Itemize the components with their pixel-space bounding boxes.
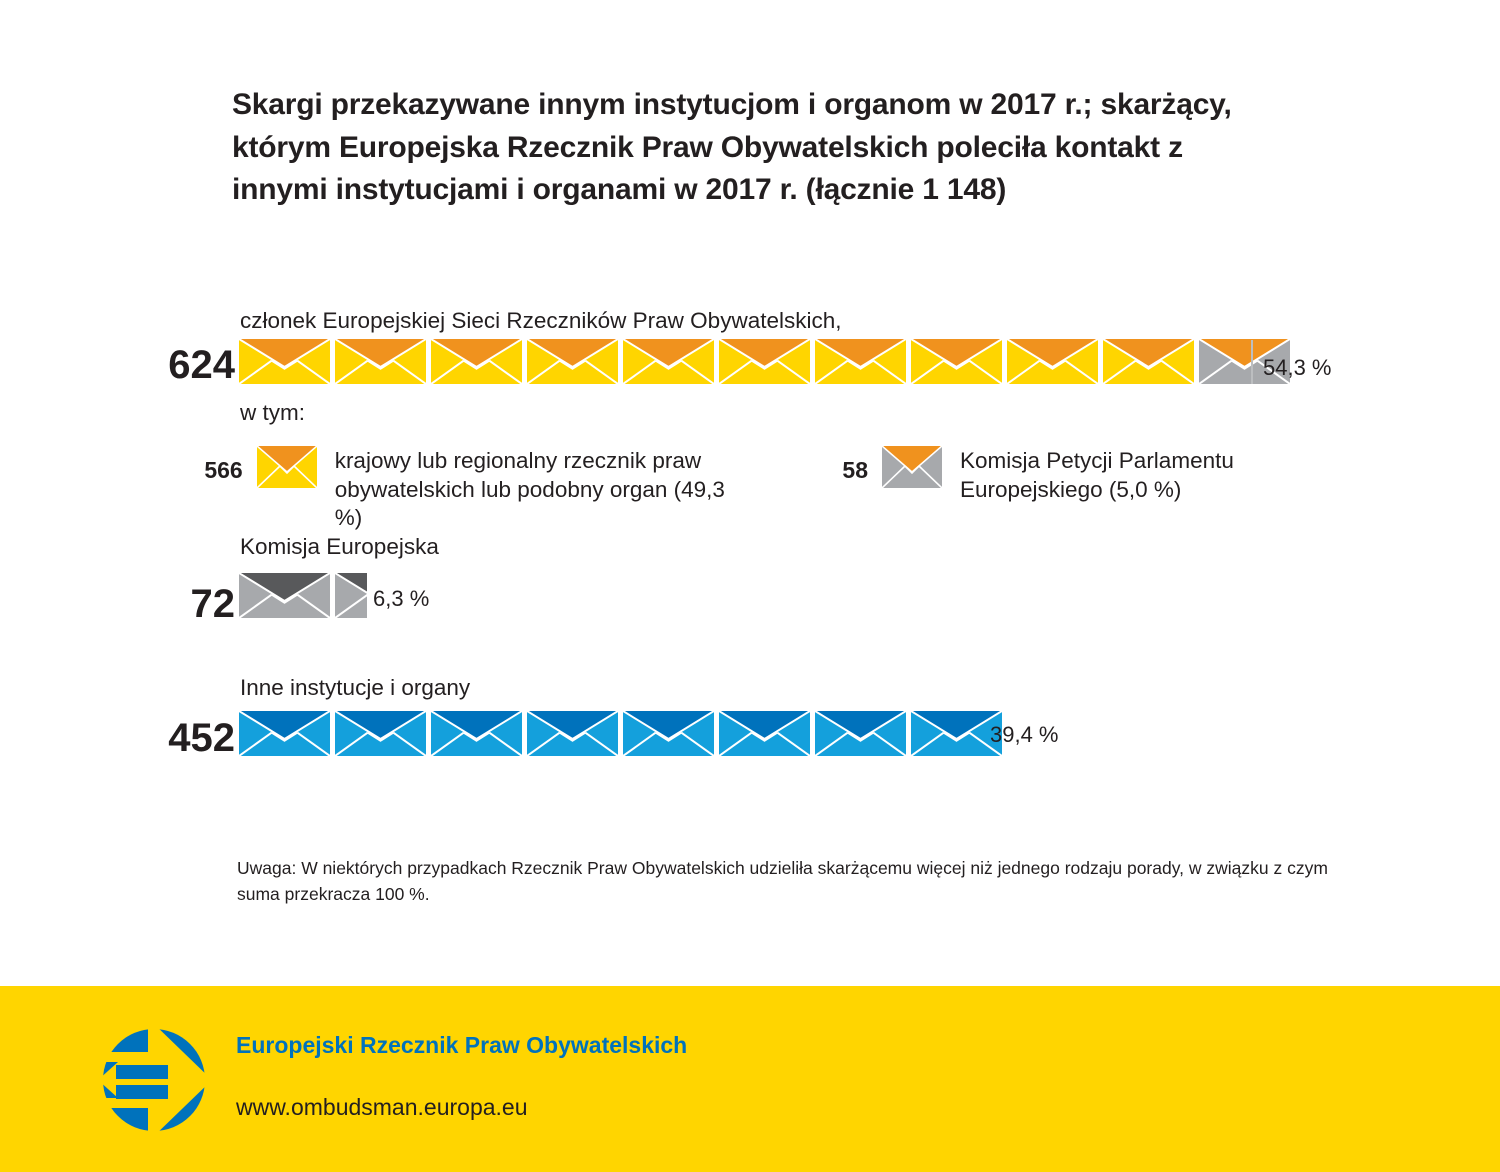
envelope-icon-blue bbox=[239, 711, 330, 756]
bar-end-tick bbox=[1251, 340, 1253, 384]
legend-item-petitions-committee: 58 Komisja Petycji Parlamentu Europejski… bbox=[790, 446, 1350, 504]
bar-european-commission bbox=[239, 573, 367, 618]
row-percent-european-commission: 6,3 % bbox=[373, 586, 429, 612]
row-label-ombudsman-network: członek Europejskiej Sieci Rzeczników Pr… bbox=[240, 307, 841, 335]
row-value-other-institutions: 452 bbox=[85, 718, 235, 758]
bar-other-institutions bbox=[239, 711, 1002, 756]
envelope-icon-yellow bbox=[1007, 339, 1098, 384]
envelope-icon-yellow bbox=[335, 339, 426, 384]
envelope-icon-yellow bbox=[239, 339, 330, 384]
envelope-icon-blue bbox=[335, 711, 426, 756]
envelope-icon-yellow bbox=[911, 339, 1002, 384]
european-ombudsman-logo bbox=[96, 1022, 212, 1143]
legend-item-national-ombudsman: 566 krajowy lub regionalny rzecznik praw… bbox=[145, 446, 745, 533]
bar-ombudsman-network bbox=[239, 339, 1290, 384]
envelope-icon-blue bbox=[719, 711, 810, 756]
envelope-icon-blue bbox=[815, 711, 906, 756]
legend-value-national-ombudsman: 566 bbox=[145, 446, 243, 482]
envelope-icon-yellow bbox=[623, 339, 714, 384]
legend-text-petitions-committee: Komisja Petycji Parlamentu Europejskiego… bbox=[960, 446, 1350, 504]
legend-value-petitions-committee: 58 bbox=[790, 446, 868, 482]
envelope-icon-blue bbox=[527, 711, 618, 756]
envelope-icon-yellow bbox=[527, 339, 618, 384]
envelope-icon-blue bbox=[431, 711, 522, 756]
row-percent-other-institutions: 39,4 % bbox=[990, 722, 1059, 748]
envelope-icon-yellow bbox=[1103, 339, 1194, 384]
envelope-icon-yellow bbox=[815, 339, 906, 384]
legend-text-national-ombudsman: krajowy lub regionalny rzecznik praw oby… bbox=[335, 446, 745, 533]
sub-label-w-tym: w tym: bbox=[240, 400, 305, 426]
footnote: Uwaga: W niektórych przypadkach Rzecznik… bbox=[237, 855, 1367, 908]
envelope-icon-yellow bbox=[431, 339, 522, 384]
envelope-icon-gray-orange bbox=[882, 446, 942, 493]
envelope-icon-gray-dark bbox=[239, 573, 330, 618]
row-value-ombudsman-network: 624 bbox=[85, 345, 235, 385]
row-label-european-commission: Komisja Europejska bbox=[240, 533, 439, 561]
footer-organisation-name: Europejski Rzecznik Praw Obywatelskich bbox=[236, 1032, 687, 1059]
footer-band bbox=[0, 986, 1500, 1172]
row-percent-ombudsman-network: 54,3 % bbox=[1263, 355, 1332, 381]
envelope-icon-gray-dark bbox=[335, 573, 367, 618]
row-label-other-institutions: Inne instytucje i organy bbox=[240, 674, 470, 702]
envelope-icon-yellow bbox=[257, 446, 317, 493]
envelope-icon-blue bbox=[623, 711, 714, 756]
row-value-european-commission: 72 bbox=[85, 584, 235, 624]
footer-url[interactable]: www.ombudsman.europa.eu bbox=[236, 1094, 528, 1121]
envelope-icon-blue bbox=[911, 711, 1002, 756]
pictogram-chart: członek Europejskiej Sieci Rzeczników Pr… bbox=[0, 0, 1500, 960]
envelope-icon-yellow bbox=[719, 339, 810, 384]
